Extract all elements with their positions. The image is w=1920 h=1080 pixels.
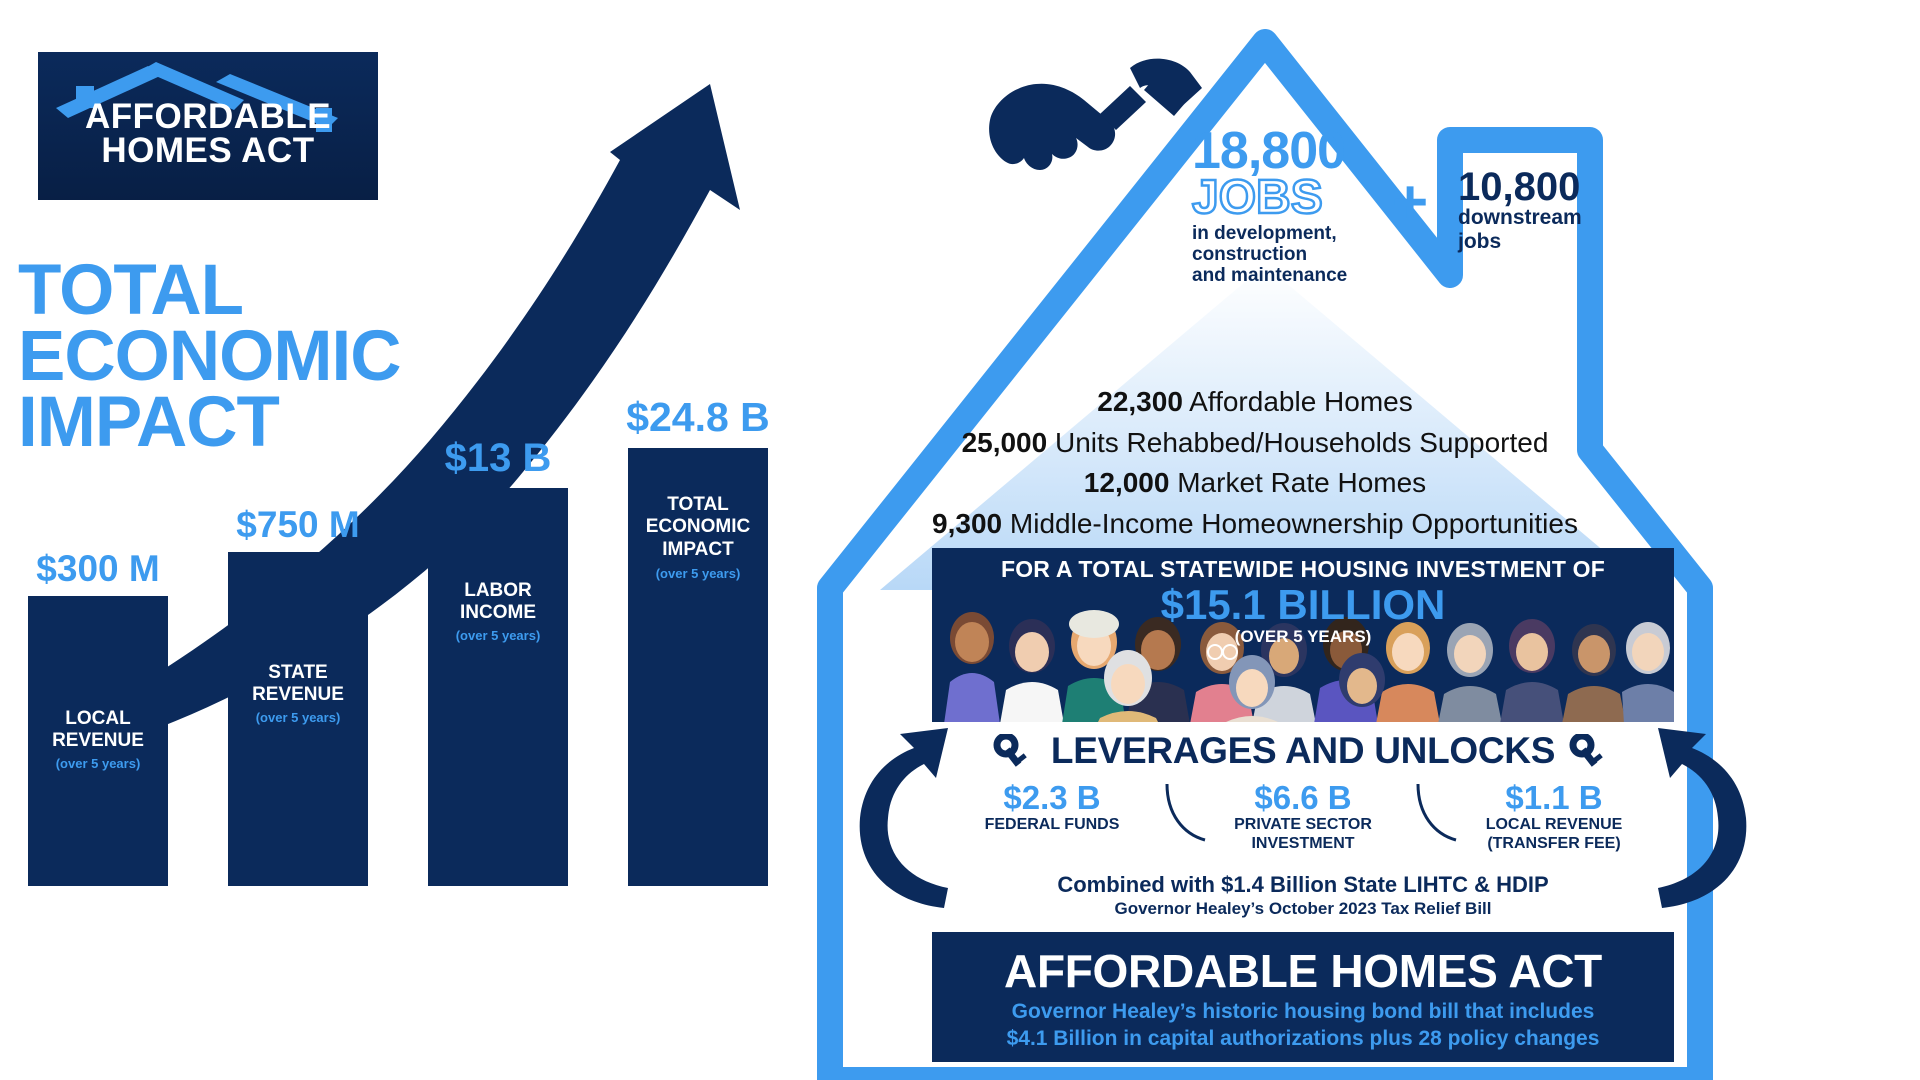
combined-sub-text: Governor Healey’s October 2023 Tax Relie… (932, 899, 1674, 919)
bar-label-4-line2: ECONOMIC (628, 516, 768, 538)
bar-rect-2: STATE REVENUE (over 5 years) (228, 552, 368, 886)
investment-amount: $15.1 BILLION (932, 583, 1674, 627)
divider-arc-icon (1412, 780, 1462, 842)
investment-heading: FOR A TOTAL STATEWIDE HOUSING INVESTMENT… (932, 556, 1674, 583)
downstream-jobs-block: 10,800 downstream jobs (1458, 168, 1618, 253)
jobs-desc-line3: and maintenance (1192, 266, 1407, 287)
bottom-banner-sub-2: $4.1 Billion in capital authorizations p… (932, 1025, 1674, 1052)
housing-stat-row: 22,300 Affordable Homes (800, 382, 1710, 423)
investment-text-overlay: FOR A TOTAL STATEWIDE HOUSING INVESTMENT… (932, 556, 1674, 647)
jobs-desc-line2: construction (1192, 245, 1407, 266)
bar-group-state-revenue: $750 M STATE REVENUE (over 5 years) (228, 552, 368, 886)
stat-number-1: 22,300 (1097, 386, 1183, 417)
bar-group-local-revenue: $300 M LOCAL REVENUE (over 5 years) (28, 596, 168, 886)
hand-hammer-icon (980, 58, 1210, 198)
investment-years: (OVER 5 YEARS) (932, 627, 1674, 647)
bar-sub-2: (over 5 years) (228, 710, 368, 725)
bar-label-2-line1: STATE (228, 662, 368, 684)
statewide-investment-banner: FOR A TOTAL STATEWIDE HOUSING INVESTMENT… (932, 548, 1674, 724)
bar-label-3-line1: LABOR (428, 580, 568, 602)
jobs-description: in development, construction and mainten… (1192, 224, 1407, 287)
leverage-item-local-revenue: $1.1 B LOCAL REVENUE (TRANSFER FEE) (1444, 780, 1664, 853)
stat-text-2: Units Rehabbed/Households Supported (1047, 427, 1548, 458)
infographic-canvas: AFFORDABLE HOMES ACT TOTAL ECONOMIC IMPA… (0, 0, 1920, 1080)
stat-number-4: 9,300 (932, 508, 1002, 539)
bar-label-4-line1: TOTAL (628, 494, 768, 516)
stat-text-3: Market Rate Homes (1169, 467, 1426, 498)
bar-sub-3: (over 5 years) (428, 628, 568, 643)
jobs-count: 18,800 (1192, 128, 1407, 175)
jobs-stat-block: 18,800 JOBS in development, construction… (1192, 128, 1407, 287)
bar-label-3-line2: INCOME (428, 602, 568, 624)
bar-label-3: LABOR INCOME (428, 580, 568, 625)
bar-group-total-economic-impact: $24.8 B TOTAL ECONOMIC IMPACT (over 5 ye… (628, 448, 768, 886)
leverage-amount-3: $1.1 B (1444, 780, 1664, 816)
jobs-word: JOBS (1192, 175, 1407, 221)
leverages-panel: LEVERAGES AND UNLOCKS $2.3 B FEDERAL FUN… (932, 722, 1674, 864)
housing-stat-row: 12,000 Market Rate Homes (800, 463, 1710, 504)
leverage-item-federal-funds: $2.3 B FEDERAL FUNDS (942, 780, 1162, 835)
stat-number-2: 25,000 (962, 427, 1048, 458)
stat-text-4: Middle-Income Homeownership Opportunitie… (1002, 508, 1578, 539)
leverage-amount-1: $2.3 B (942, 780, 1162, 816)
divider-arc-icon (1161, 780, 1211, 842)
leverage-item-private-sector: $6.6 B PRIVATE SECTOR INVESTMENT (1193, 780, 1413, 853)
bar-sub-1: (over 5 years) (28, 756, 168, 771)
bar-rect-4: TOTAL ECONOMIC IMPACT (over 5 years) (628, 448, 768, 886)
bar-rect-1: LOCAL REVENUE (over 5 years) (28, 596, 168, 886)
bar-label-4: TOTAL ECONOMIC IMPACT (628, 494, 768, 561)
bottom-banner-sub-1: Governor Healey’s historic housing bond … (932, 998, 1674, 1025)
downstream-count: 10,800 (1458, 168, 1618, 206)
key-icon (993, 734, 1037, 768)
housing-stats-list: 22,300 Affordable Homes 25,000 Units Reh… (800, 382, 1710, 544)
stat-text-1: Affordable Homes (1183, 386, 1413, 417)
housing-stat-row: 9,300 Middle-Income Homeownership Opport… (800, 504, 1710, 545)
combined-note: Combined with $1.4 Billion State LIHTC &… (932, 872, 1674, 919)
leverage-label-2a: PRIVATE SECTOR (1193, 816, 1413, 834)
stat-number-3: 12,000 (1084, 467, 1170, 498)
bar-label-2-line2: REVENUE (228, 684, 368, 706)
leverage-label-3a: LOCAL REVENUE (1444, 816, 1664, 834)
leverage-label-2b: INVESTMENT (1193, 835, 1413, 853)
bar-label-2: STATE REVENUE (228, 662, 368, 707)
downstream-line2: jobs (1458, 230, 1618, 254)
bar-value-4: $24.8 B (626, 394, 770, 441)
combined-main-text: Combined with $1.4 Billion State LIHTC &… (932, 872, 1674, 898)
leverage-label-1: FEDERAL FUNDS (942, 816, 1162, 834)
bar-label-1-line1: LOCAL (28, 708, 168, 730)
bottom-banner-title: AFFORDABLE HOMES ACT (932, 944, 1674, 998)
bar-group-labor-income: $13 B LABOR INCOME (over 5 years) (428, 488, 568, 886)
bottom-banner: AFFORDABLE HOMES ACT Governor Healey’s h… (932, 932, 1674, 1062)
housing-stat-row: 25,000 Units Rehabbed/Households Support… (800, 423, 1710, 464)
bar-rect-3: LABOR INCOME (over 5 years) (428, 488, 568, 886)
jobs-desc-line1: in development, (1192, 224, 1407, 245)
downstream-line1: downstream (1458, 206, 1618, 230)
plus-icon: + (1392, 172, 1428, 234)
bar-value-1: $300 M (36, 548, 159, 590)
leverage-label-3b: (TRANSFER FEE) (1444, 835, 1664, 853)
downstream-description: downstream jobs (1458, 206, 1618, 253)
key-icon (1569, 734, 1613, 768)
leverage-amount-2: $6.6 B (1193, 780, 1413, 816)
bar-value-2: $750 M (236, 504, 359, 546)
bar-label-4-line3: IMPACT (628, 539, 768, 561)
bar-value-3: $13 B (445, 436, 552, 481)
bar-label-1-line2: REVENUE (28, 730, 168, 752)
bar-label-1: LOCAL REVENUE (28, 708, 168, 753)
leverages-title: LEVERAGES AND UNLOCKS (1051, 730, 1555, 772)
bar-sub-4: (over 5 years) (628, 566, 768, 581)
leverages-header: LEVERAGES AND UNLOCKS (932, 730, 1674, 772)
